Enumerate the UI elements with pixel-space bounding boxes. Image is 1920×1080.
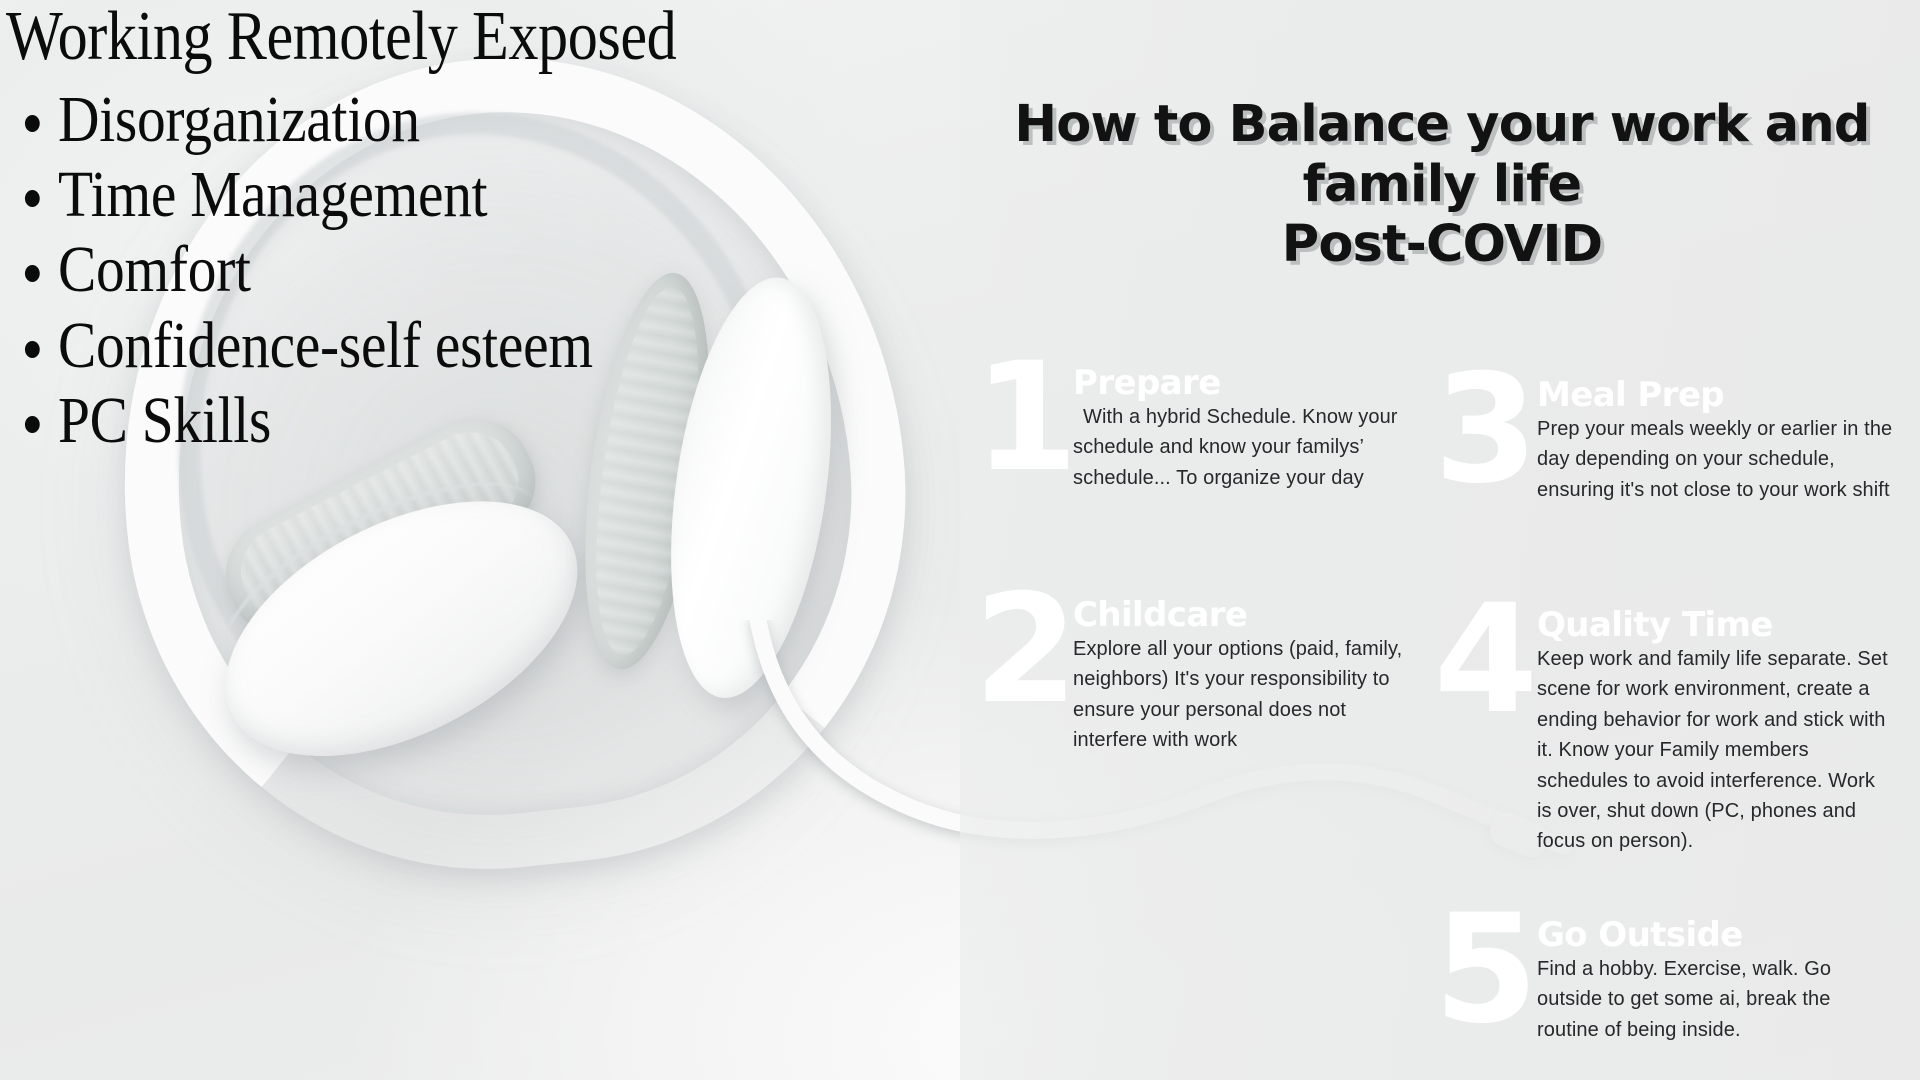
page-title-line-1: How to Balance your work and [967,95,1917,155]
left-panel: Working Remotely Exposed Disorganization… [0,0,1006,458]
step-description: Find a hobby. Exercise, walk. Go outside… [1537,954,1895,1045]
list-item: Disorganization [58,82,883,157]
page-title: How to Balance your work and family life… [967,95,1917,276]
right-panel: How to Balance your work and family life… [955,0,1920,1080]
step-heading: Go Outside [1537,918,1895,952]
step-body: Childcare Explore all your options (paid… [1073,592,1409,756]
step-description: With a hybrid Schedule. Know your schedu… [1073,402,1409,493]
step-heading: Quality Time [1537,608,1895,642]
step-heading: Prepare [1073,366,1409,400]
step-body: Prepare With a hybrid Schedule. Know you… [1073,360,1409,493]
step-description: Explore all your options (paid, family, … [1073,634,1409,756]
step-number: 3 [1425,372,1541,489]
step-number: 1 [969,360,1077,477]
step-number: 4 [1425,602,1541,719]
exposed-skills-list: Disorganization Time Management Comfort … [6,82,1006,458]
list-item: Confidence-self esteem [58,308,883,383]
step-heading: Childcare [1073,598,1409,632]
step-heading: Meal Prep [1537,378,1895,412]
list-item: Comfort [58,232,883,307]
step-item-childcare: 2 Childcare Explore all your options (pa… [969,592,1409,756]
page-title-line-2: family life [967,155,1917,215]
steps-list: 1 Prepare With a hybrid Schedule. Know y… [955,360,1920,1080]
step-item-go-outside: 5 Go Outside Find a hobby. Exercise, wal… [1425,912,1895,1045]
step-body: Meal Prep Prep your meals weekly or earl… [1537,372,1895,505]
step-item-quality-time: 4 Quality Time Keep work and family life… [1425,602,1895,857]
step-body: Go Outside Find a hobby. Exercise, walk.… [1537,912,1895,1045]
step-body: Quality Time Keep work and family life s… [1537,602,1895,857]
step-description: Keep work and family life separate. Set … [1537,644,1895,857]
step-number: 2 [969,592,1077,709]
left-panel-heading: Working Remotely Exposed [6,2,866,72]
step-item-meal-prep: 3 Meal Prep Prep your meals weekly or ea… [1425,372,1895,505]
list-item: Time Management [58,157,883,232]
step-number: 5 [1425,912,1541,1029]
step-item-prepare: 1 Prepare With a hybrid Schedule. Know y… [969,360,1409,493]
page-title-line-3: Post-COVID [967,215,1917,275]
poster-canvas: Working Remotely Exposed Disorganization… [0,0,1920,1080]
list-item: PC Skills [58,383,883,458]
step-description: Prep your meals weekly or earlier in the… [1537,414,1895,505]
